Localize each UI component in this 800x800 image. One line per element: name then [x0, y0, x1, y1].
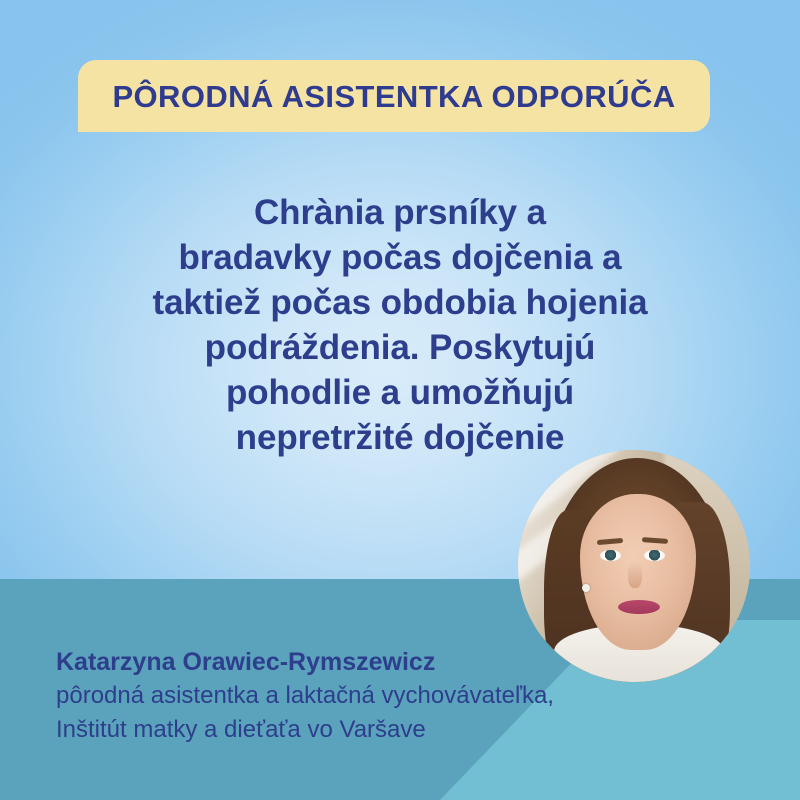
quote-text-block: Chrània prsníky a bradavky počas dojčeni…: [0, 190, 800, 460]
header-banner-title: PÔRODNÁ ASISTENTKA ODPORÚČA: [112, 81, 675, 112]
attribution-block: Katarzyna Orawiec-Rymszewicz pôrodná asi…: [56, 645, 756, 747]
quote-line: Chrània prsníky a: [0, 190, 800, 235]
header-banner: PÔRODNÁ ASISTENTKA ODPORÚČA: [78, 60, 710, 132]
portrait-earring: [582, 584, 590, 592]
attribution-name: Katarzyna Orawiec-Rymszewicz: [56, 645, 756, 679]
quote-line: podráždenia. Poskytujú: [0, 325, 800, 370]
quote-line: bradavky počas dojčenia a: [0, 235, 800, 280]
quote-line: pohodlie a umožňujú: [0, 370, 800, 415]
attribution-role-line-2: Inštitút matky a dieťaťa vo Varšave: [56, 713, 756, 747]
attribution-role-line-1: pôrodná asistentka a laktačná vychovávat…: [56, 679, 756, 713]
quote-line: taktiež počas obdobia hojenia: [0, 280, 800, 325]
promotional-poster: PÔRODNÁ ASISTENTKA ODPORÚČA Chrània prsn…: [0, 0, 800, 800]
portrait-nose: [628, 562, 642, 588]
portrait-lips: [618, 600, 660, 614]
portrait-eye-right: [644, 550, 665, 561]
portrait-eye-left: [600, 550, 621, 561]
